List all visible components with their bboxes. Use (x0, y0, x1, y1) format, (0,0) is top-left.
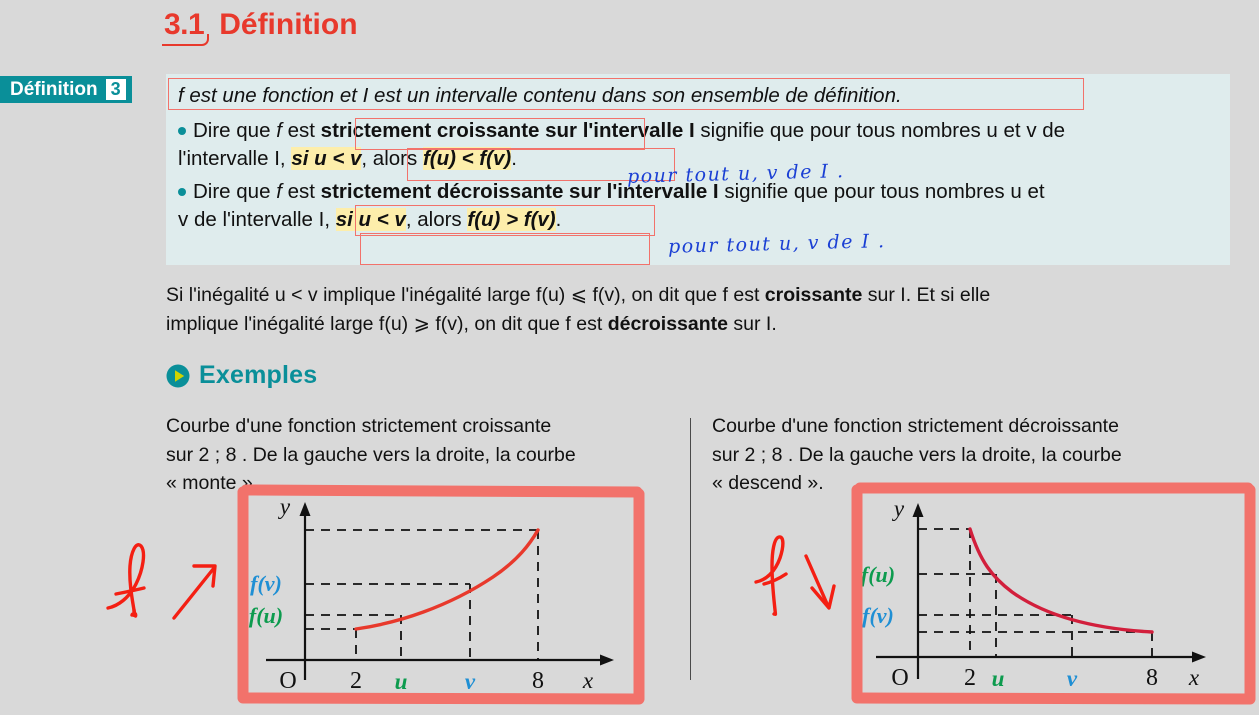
body-paragraph: Si l'inégalité u < v implique l'inégalit… (166, 281, 1236, 340)
dashed-guides (918, 529, 1152, 657)
body-paragraph-line-2: implique l'inégalité large f(u) ⩾ f(v), … (166, 310, 1236, 339)
bullet-dot-icon (178, 188, 186, 196)
example-left-line-1: Courbe d'une fonction strictement croiss… (166, 412, 666, 441)
definition-bullet-1-line-2: l'intervalle I, si u < v, alors f(u) < f… (178, 147, 517, 172)
origin-label: O (891, 665, 908, 691)
origin-label: O (279, 668, 296, 694)
graph-increasing: f(v) f(u) y O 2 u v 8 x (248, 492, 640, 700)
x-tick-2: 2 (350, 668, 362, 694)
y-axis-name: y (892, 496, 905, 521)
example-right-line-1: Courbe d'une fonction strictement décroi… (712, 412, 1227, 441)
y-axis-name: y (278, 494, 291, 519)
b1-verb: est (288, 119, 315, 142)
handwritten-f-decreasing-icon (742, 534, 882, 654)
definition-badge-number: 3 (106, 79, 126, 100)
b1-condition-highlight: si u < v (291, 147, 361, 170)
section-number-badge: 3.1 (162, 8, 209, 45)
b1-lead: Dire que (193, 119, 271, 142)
x-tick-2: 2 (964, 665, 976, 691)
handwritten-f-increasing-icon (96, 536, 246, 656)
examples-vertical-divider (690, 418, 691, 680)
section-title: Définition (219, 8, 357, 42)
b2-subject: f (276, 180, 282, 203)
y-axis-arrow (913, 503, 924, 517)
y-label-fu: f(u) (862, 562, 895, 587)
b1-tail: signifie que pour tous nombres u et v de (700, 119, 1065, 142)
b2-line2-prefix: v de l'intervalle I, (178, 208, 330, 231)
definition-bullet-2-line-1: Dire que f est strictement décroissante … (178, 180, 1045, 205)
b1-line2-mid: , alors (361, 147, 417, 170)
body-paragraph-line-1: Si l'inégalité u < v implique l'inégalit… (166, 281, 1236, 310)
example-right-description: Courbe d'une fonction strictement décroi… (712, 412, 1227, 498)
x-axis-arrow (1192, 652, 1206, 663)
y-label-fu: f(u) (249, 603, 283, 628)
b2-condition-highlight: si u < v (336, 208, 406, 231)
dashed-guides (305, 530, 538, 660)
b2-line2-mid: , alors (406, 208, 462, 231)
b1-subject: f (276, 119, 282, 142)
y-label-fv: f(v) (250, 571, 282, 596)
x-tick-u: u (992, 666, 1005, 691)
y-axis-arrow (300, 502, 311, 516)
examples-label: Exemples (199, 361, 317, 390)
definition-badge-label: Définition (10, 79, 98, 101)
example-left-description: Courbe d'une fonction strictement croiss… (166, 412, 666, 498)
b1-result-highlight: f(u) < f(v) (423, 147, 511, 170)
x-tick-8: 8 (532, 668, 544, 694)
intro-text: f est une fonction et I est un intervall… (178, 84, 902, 107)
x-tick-u: u (395, 669, 408, 694)
b2-result-highlight: f(u) > f(v) (467, 208, 555, 231)
curve-increasing (356, 530, 538, 629)
bullet-dot-icon (178, 127, 186, 135)
example-left-line-2: sur 2 ; 8 . De la gauche vers la droite,… (166, 441, 666, 470)
section-number: 3.1 (164, 8, 204, 41)
examples-header: Exemples (166, 361, 317, 390)
x-tick-v: v (465, 669, 476, 694)
x-axis-name: x (1188, 665, 1200, 690)
definition-bullet-2-line-2: v de l'intervalle I, si u < v, alors f(u… (178, 208, 561, 233)
b2-line2-end: . (556, 208, 562, 231)
y-label-fv: f(v) (862, 603, 894, 628)
play-circle-icon (166, 364, 190, 388)
b1-line2-end: . (511, 147, 517, 170)
definition-bullet-1-line-1: Dire que f est strictement croissante su… (178, 119, 1065, 144)
b2-lead: Dire que (193, 180, 271, 203)
definition-badge: Définition 3 (0, 76, 132, 103)
x-axis-name: x (582, 668, 594, 693)
x-axis-arrow (600, 655, 614, 666)
graph-decreasing: f(u) f(v) y O 2 u v 8 x (862, 489, 1254, 701)
example-right-line-2: sur 2 ; 8 . De la gauche vers la droite,… (712, 441, 1227, 470)
b1-line2-prefix: l'intervalle I, (178, 147, 286, 170)
x-tick-8: 8 (1146, 665, 1158, 691)
x-tick-v: v (1067, 666, 1078, 691)
page-title: 3.1 Définition (162, 8, 358, 45)
b2-verb: est (288, 180, 315, 203)
b1-emphasis: strictement croissante sur l'intervalle … (321, 119, 695, 142)
curve-decreasing (970, 529, 1152, 632)
definition-intro-line: f est une fonction et I est un intervall… (178, 84, 902, 109)
